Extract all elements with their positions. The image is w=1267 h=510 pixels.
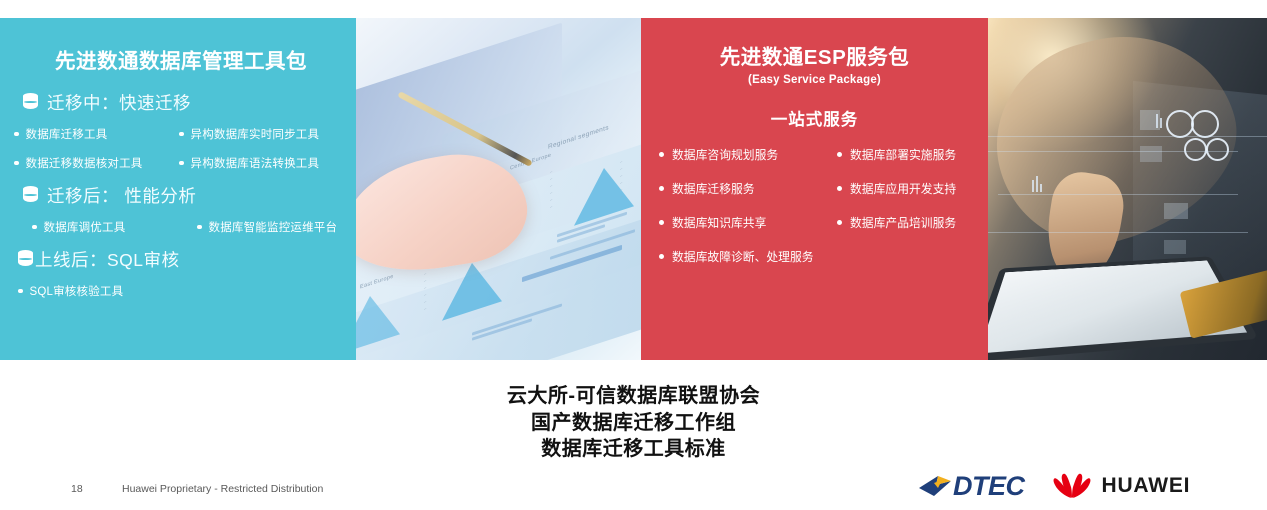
huawei-flower-icon xyxy=(1051,473,1093,500)
dtec-logo: DTEC xyxy=(918,471,1025,502)
database-icon xyxy=(18,250,33,269)
panel-divider xyxy=(352,18,356,360)
hud-ring-icon xyxy=(1166,110,1194,138)
bullet-dot-icon xyxy=(659,186,664,191)
bullet-dot-icon xyxy=(32,225,37,230)
bullet-dot-icon xyxy=(837,186,842,191)
bullet-dot-icon xyxy=(197,225,202,230)
list-item-label: 数据库应用开发支持 xyxy=(850,180,956,197)
list-item-label: 异构数据库实时同步工具 xyxy=(191,126,320,142)
banner-band: 先进数通数据库管理工具包 迁移中：快速迁移 数据库迁移工具 异构数据库实时同步工… xyxy=(0,18,1267,360)
list-item-label: 数据库咨询规划服务 xyxy=(672,146,778,163)
footer-title-line-1: 云大所-可信数据库联盟协会 xyxy=(0,383,1267,410)
phase-label-after-launch: 上线后：SQL审核 xyxy=(35,247,180,272)
hud-ring-icon xyxy=(1206,138,1229,161)
list-item: 异构数据库语法转换工具 xyxy=(179,155,342,171)
phase-heading-after-launch: 上线后：SQL审核 xyxy=(18,247,342,272)
huawei-logo-text: HUAWEI xyxy=(1102,474,1191,498)
list-item-label: SQL审核核验工具 xyxy=(30,283,124,299)
phase-label-migrating: 迁移中：快速迁移 xyxy=(47,90,191,115)
phase-label-after-migration: 迁移后： 性能分析 xyxy=(47,183,196,208)
logo-row: DTEC HUAWEI xyxy=(918,468,1208,504)
list-item-label: 数据库迁移工具 xyxy=(26,126,108,142)
right-esp-panel: 先进数通ESP服务包 (Easy Service Package) 一站式服务 … xyxy=(641,18,988,360)
bullet-dot-icon xyxy=(14,161,19,166)
right-panel-section-heading: 一站式服务 xyxy=(641,106,988,130)
hud-ring-icon xyxy=(1184,138,1207,161)
list-item: SQL审核核验工具 xyxy=(18,283,342,299)
list-item: 数据库产品培训服务 xyxy=(837,214,988,231)
footer-title-block: 云大所-可信数据库联盟协会 国产数据库迁移工作组 数据库迁移工具标准 xyxy=(0,383,1267,463)
footer-title-line-3: 数据库迁移工具标准 xyxy=(0,436,1267,463)
list-item: 数据迁移数据核对工具 xyxy=(14,155,179,171)
list-item-label: 数据库产品培训服务 xyxy=(850,214,956,231)
center-photo-charts: Regional segments Central Europe West Eu… xyxy=(352,18,641,360)
list-item-label: 数据迁移数据核对工具 xyxy=(26,155,143,171)
bullet-dot-icon xyxy=(837,220,842,225)
list-item-label: 数据库知识库共享 xyxy=(672,214,766,231)
dtec-mark-icon xyxy=(918,473,952,499)
list-item: 数据库调优工具 xyxy=(32,219,197,235)
right-panel-subtitle: (Easy Service Package) xyxy=(641,74,988,86)
after-migration-items-grid: 数据库调优工具 数据库智能监控运维平台 xyxy=(14,219,342,235)
phase-heading-after-migration: 迁移后： 性能分析 xyxy=(23,183,342,208)
bullet-dot-icon xyxy=(14,132,19,137)
list-item: 数据库咨询规划服务 xyxy=(659,146,837,163)
list-item-label: 数据库迁移服务 xyxy=(672,180,755,197)
page-number: 18 xyxy=(71,483,83,495)
list-item-label: 数据库故障诊断、处理服务 xyxy=(672,248,814,265)
list-item-label: 数据库部署实施服务 xyxy=(850,146,956,163)
bullet-dot-icon xyxy=(837,152,842,157)
esp-items-grid: 数据库咨询规划服务 数据库部署实施服务 数据库迁移服务 数据库应用开发支持 数据… xyxy=(641,146,988,265)
phase-heading-migrating: 迁移中：快速迁移 xyxy=(23,90,342,115)
left-toolkit-panel: 先进数通数据库管理工具包 迁移中：快速迁移 数据库迁移工具 异构数据库实时同步工… xyxy=(0,18,352,360)
migrating-items-grid: 数据库迁移工具 异构数据库实时同步工具 数据迁移数据核对工具 异构数据库语法转换… xyxy=(14,126,342,171)
bullet-dot-icon xyxy=(18,289,23,294)
right-photo-tablet xyxy=(988,18,1267,360)
left-panel-title: 先进数通数据库管理工具包 xyxy=(14,44,342,74)
list-item: 数据库应用开发支持 xyxy=(837,180,988,197)
hud-ring-icon xyxy=(1191,110,1219,138)
list-item: 数据库迁移服务 xyxy=(659,180,837,197)
list-item-label: 数据库智能监控运维平台 xyxy=(209,219,338,235)
database-icon xyxy=(23,186,38,205)
list-item: 数据库部署实施服务 xyxy=(837,146,988,163)
bullet-dot-icon xyxy=(659,254,664,259)
list-item-label: 数据库调优工具 xyxy=(44,219,126,235)
bullet-dot-icon xyxy=(179,132,184,137)
list-item: 数据库智能监控运维平台 xyxy=(197,219,342,235)
slide-canvas: 先进数通数据库管理工具包 迁移中：快速迁移 数据库迁移工具 异构数据库实时同步工… xyxy=(0,0,1267,510)
footer-title-line-2: 国产数据库迁移工作组 xyxy=(0,410,1267,437)
list-item: 异构数据库实时同步工具 xyxy=(179,126,342,142)
list-item: 数据库故障诊断、处理服务 xyxy=(659,248,837,265)
list-item: 数据库知识库共享 xyxy=(659,214,837,231)
proprietary-notice: Huawei Proprietary - Restricted Distribu… xyxy=(122,483,323,495)
right-panel-title: 先进数通ESP服务包 xyxy=(641,40,988,70)
dtec-logo-text: DTEC xyxy=(953,471,1025,502)
list-item: 数据库迁移工具 xyxy=(14,126,179,142)
list-item-label: 异构数据库语法转换工具 xyxy=(191,155,320,171)
bullet-dot-icon xyxy=(659,220,664,225)
database-icon xyxy=(23,93,38,112)
bullet-dot-icon xyxy=(179,161,184,166)
bullet-dot-icon xyxy=(659,152,664,157)
huawei-logo: HUAWEI xyxy=(1051,473,1191,500)
